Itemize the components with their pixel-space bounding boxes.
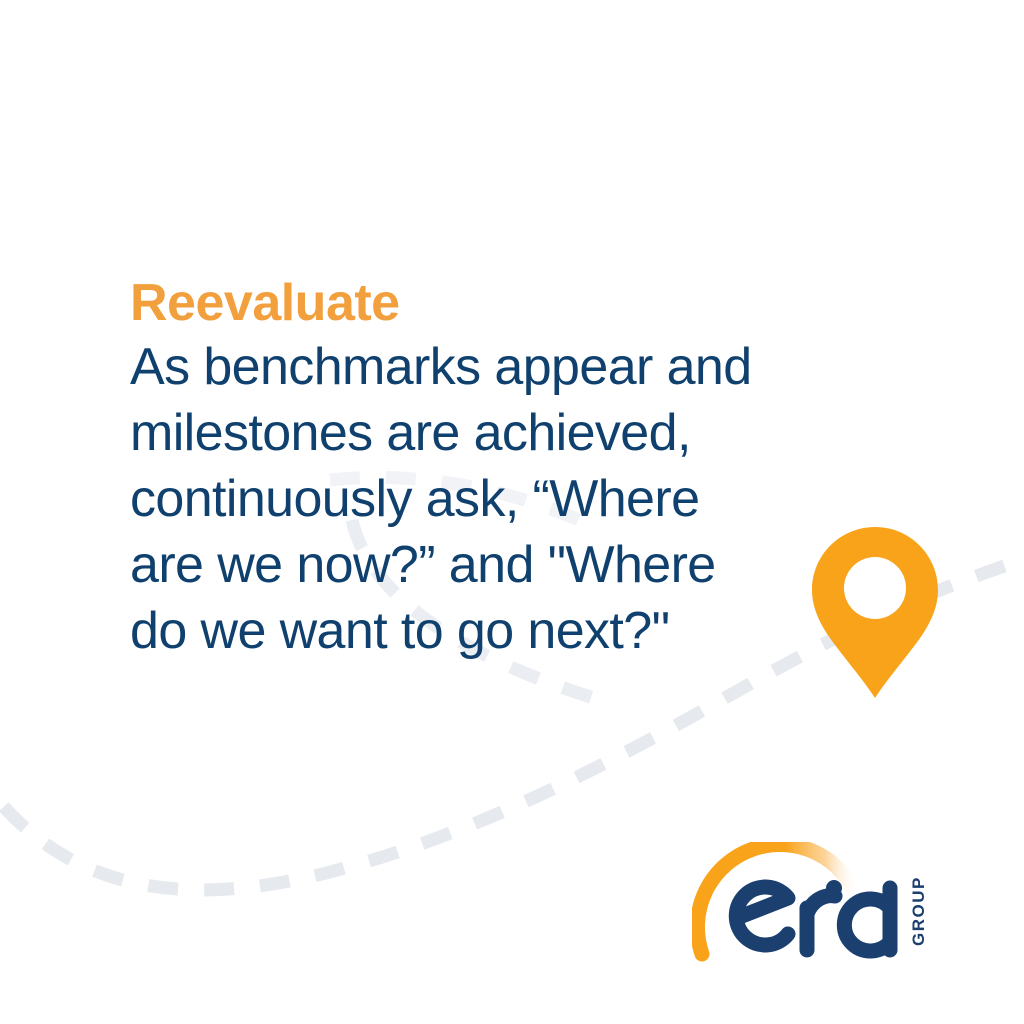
body-line: do we want to go next?" <box>130 598 850 664</box>
body-line: are we now?” and "Where <box>130 532 850 598</box>
body-line: continuously ask, “Where <box>130 466 850 532</box>
body-line: milestones are achieved, <box>130 400 850 466</box>
map-pin-icon <box>812 527 938 699</box>
body-copy: As benchmarks appear and milestones are … <box>130 334 850 664</box>
logo-letter-r-shoulder <box>807 896 835 914</box>
era-group-logo: GROUP <box>692 842 954 970</box>
logo-letter-r-dot <box>826 880 842 896</box>
poster-canvas: Reevaluate As benchmarks appear and mile… <box>0 0 1024 1024</box>
message-block: Reevaluate As benchmarks appear and mile… <box>130 272 850 664</box>
page-title: Reevaluate <box>130 272 850 334</box>
logo-group-label: GROUP <box>909 876 928 946</box>
body-line: As benchmarks appear and <box>130 334 850 400</box>
logo-letter-e <box>736 887 788 945</box>
